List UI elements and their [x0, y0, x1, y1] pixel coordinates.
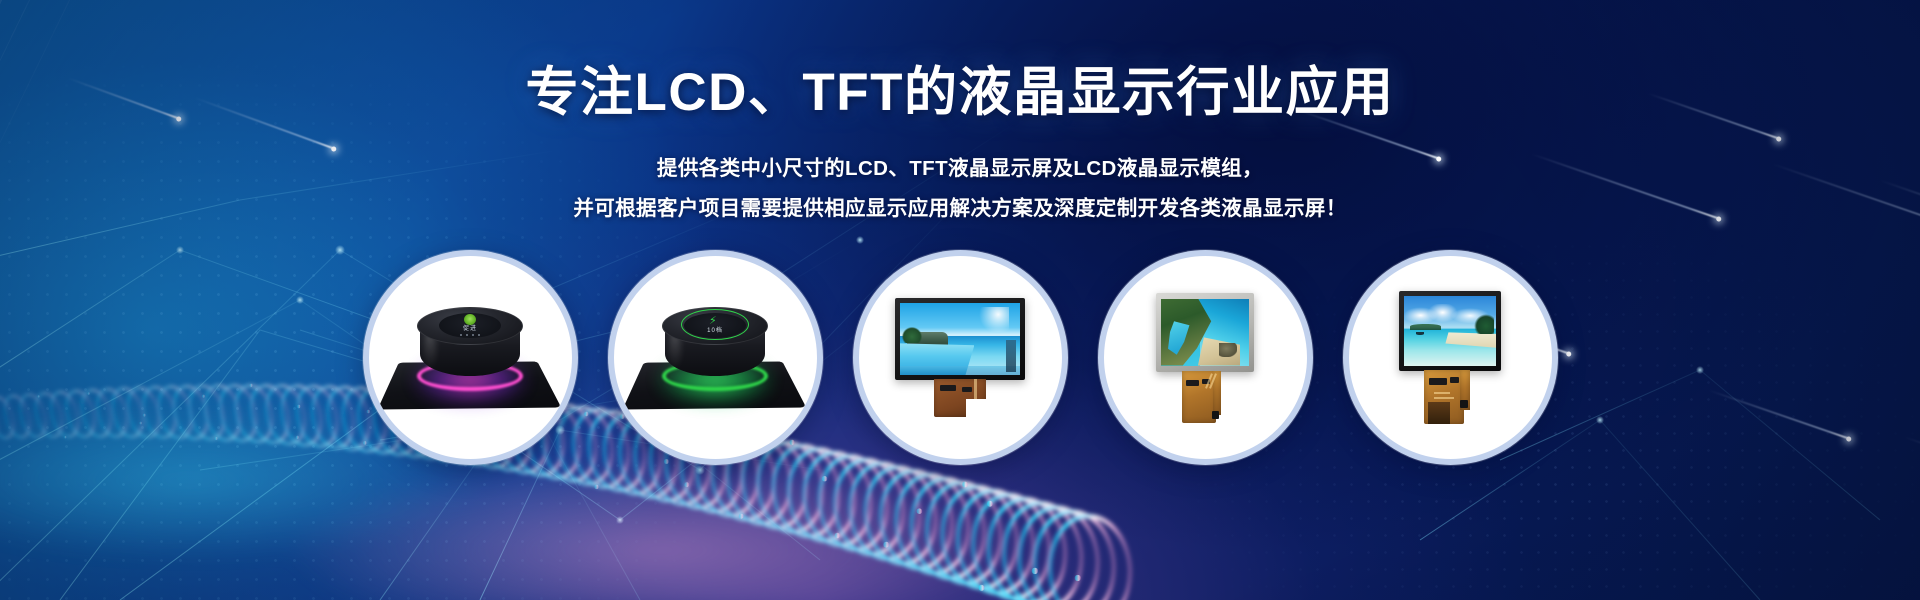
fpc-trace [1434, 392, 1450, 394]
panel-bezel [1156, 293, 1254, 372]
product-image-smart-hub-green: ⚡ 10档 [626, 269, 804, 447]
fpc-chip [962, 387, 972, 392]
fpc-cable [934, 379, 986, 417]
smart-hub-green-illustration: ⚡ 10档 [629, 283, 801, 433]
lcd-panel-coast [1156, 293, 1254, 423]
device-indicator-dots [460, 334, 480, 336]
product-image-tft-lcd-beach [1361, 269, 1539, 447]
panel-screen-beach-scene [1404, 296, 1496, 366]
smart-hub-purple-illustration: 促进 [384, 283, 556, 433]
rock-formation [1219, 343, 1237, 358]
product-image-smart-hub-purple: 促进 [381, 269, 559, 447]
fpc-chip [1429, 378, 1447, 385]
fpc-chip [940, 385, 956, 391]
panel-bezel [895, 298, 1025, 380]
palm-trees [902, 327, 921, 343]
lightning-icon: ⚡ [709, 316, 721, 327]
panel-screen-coast-scene [1161, 299, 1249, 366]
pier [1006, 340, 1017, 372]
fpc-backlight-strip [1428, 402, 1450, 424]
product-circle-smart-hub-purple[interactable]: 促进 [363, 250, 578, 465]
palm-trees [1474, 314, 1494, 334]
panel-screen-pool-scene [900, 303, 1020, 375]
fpc-cable [1424, 370, 1476, 424]
product-showcase-row: 促进 ⚡ 10档 [0, 250, 1920, 465]
product-image-tft-lcd-coast [1116, 269, 1294, 447]
product-circle-smart-hub-green[interactable]: ⚡ 10档 [608, 250, 823, 465]
device-display: 促进 [439, 313, 501, 338]
distant-island [1410, 324, 1441, 330]
fpc-connector [1460, 400, 1468, 408]
banner-headline: 专注LCD、TFT的液晶显示行业应用 [0, 62, 1920, 125]
product-circle-tft-lcd-beach[interactable] [1343, 250, 1558, 465]
fpc-notch [966, 399, 986, 417]
fpc-chip [1450, 377, 1459, 383]
banner-subtitle-line-2: 并可根据客户项目需要提供相应显示应用解决方案及深度定制开发各类液晶显示屏！ [0, 189, 1920, 229]
lcd-panel-wide [895, 298, 1025, 417]
sun-glare [973, 307, 1009, 331]
hero-banner: 专注LCD、TFT的液晶显示行业应用 提供各类中小尺寸的LCD、TFT液晶显示屏… [0, 0, 1920, 600]
banner-subtitle: 提供各类中小尺寸的LCD、TFT液晶显示屏及LCD液晶显示模组， 并可根据客户项… [0, 149, 1920, 229]
banner-subtitle-line-1: 提供各类中小尺寸的LCD、TFT液晶显示屏及LCD液晶显示模组， [0, 149, 1920, 189]
device-display: ⚡ 10档 [684, 313, 746, 338]
flower-icon [464, 314, 476, 325]
pool-deck [900, 366, 1020, 375]
banner-text-block: 专注LCD、TFT的液晶显示行业应用 提供各类中小尺寸的LCD、TFT液晶显示屏… [0, 62, 1920, 228]
device-display-label: 促进 [463, 326, 477, 332]
fpc-trace [1434, 397, 1454, 399]
product-image-tft-lcd-wide-pool [871, 269, 1049, 447]
product-circle-tft-lcd-wide-pool[interactable] [853, 250, 1068, 465]
panel-bezel [1399, 291, 1501, 371]
device-display-label: 10档 [707, 328, 723, 334]
fpc-chip [1186, 380, 1199, 386]
fpc-connector [1212, 411, 1219, 419]
lcd-panel-beach [1399, 291, 1501, 424]
fpc-cable [1182, 371, 1228, 423]
product-circle-tft-lcd-coast[interactable] [1098, 250, 1313, 465]
